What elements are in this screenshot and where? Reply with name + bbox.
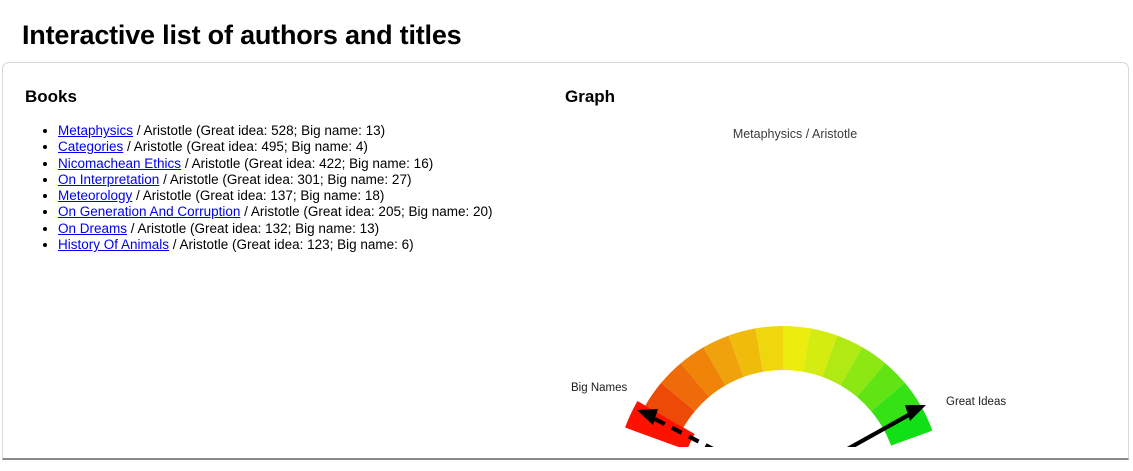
book-link[interactable]: On Interpretation [58,172,159,187]
book-detail: / Aristotle (Great idea: 495; Big name: … [123,139,368,154]
gauge-chart[interactable]: Metaphysics / Aristotle Big Names Great … [565,87,1110,447]
book-link[interactable]: Metaphysics [58,123,133,138]
list-item: Categories / Aristotle (Great idea: 495;… [58,139,545,155]
book-link[interactable]: Nicomachean Ethics [58,156,181,171]
book-detail: / Aristotle (Great idea: 205; Big name: … [240,204,492,219]
book-link[interactable]: Categories [58,139,123,154]
book-detail: / Aristotle (Great idea: 132; Big name: … [127,221,379,236]
axis-label-great-ideas: Great Ideas [946,396,1006,408]
book-link[interactable]: History Of Animals [58,237,169,252]
book-link[interactable]: Meteorology [58,188,132,203]
list-item: Metaphysics / Aristotle (Great idea: 528… [58,123,545,139]
book-link[interactable]: On Dreams [58,221,127,236]
axis-label-big-names: Big Names [571,382,627,394]
content-panel: Books Metaphysics / Aristotle (Great ide… [2,62,1129,460]
list-item: On Generation And Corruption / Aristotle… [58,204,545,220]
books-section: Books Metaphysics / Aristotle (Great ide… [25,87,545,253]
graph-section: Graph Metaphysics / Aristotle Big Names [565,87,1110,447]
book-detail: / Aristotle (Great idea: 422; Big name: … [181,156,433,171]
books-list: Metaphysics / Aristotle (Great idea: 528… [25,123,545,253]
book-detail: / Aristotle (Great idea: 123; Big name: … [169,237,414,252]
list-item: Nicomachean Ethics / Aristotle (Great id… [58,156,545,172]
book-detail: / Aristotle (Great idea: 137; Big name: … [132,188,384,203]
list-item: On Interpretation / Aristotle (Great ide… [58,172,545,188]
gauge-svg [565,87,1110,447]
list-item: Meteorology / Aristotle (Great idea: 137… [58,188,545,204]
book-link[interactable]: On Generation And Corruption [58,204,240,219]
book-detail: / Aristotle (Great idea: 301; Big name: … [159,172,411,187]
books-heading: Books [25,87,545,107]
book-detail: / Aristotle (Great idea: 528; Big name: … [133,123,385,138]
page-title: Interactive list of authors and titles [22,18,462,52]
list-item: History Of Animals / Aristotle (Great id… [58,237,545,253]
list-item: On Dreams / Aristotle (Great idea: 132; … [58,221,545,237]
